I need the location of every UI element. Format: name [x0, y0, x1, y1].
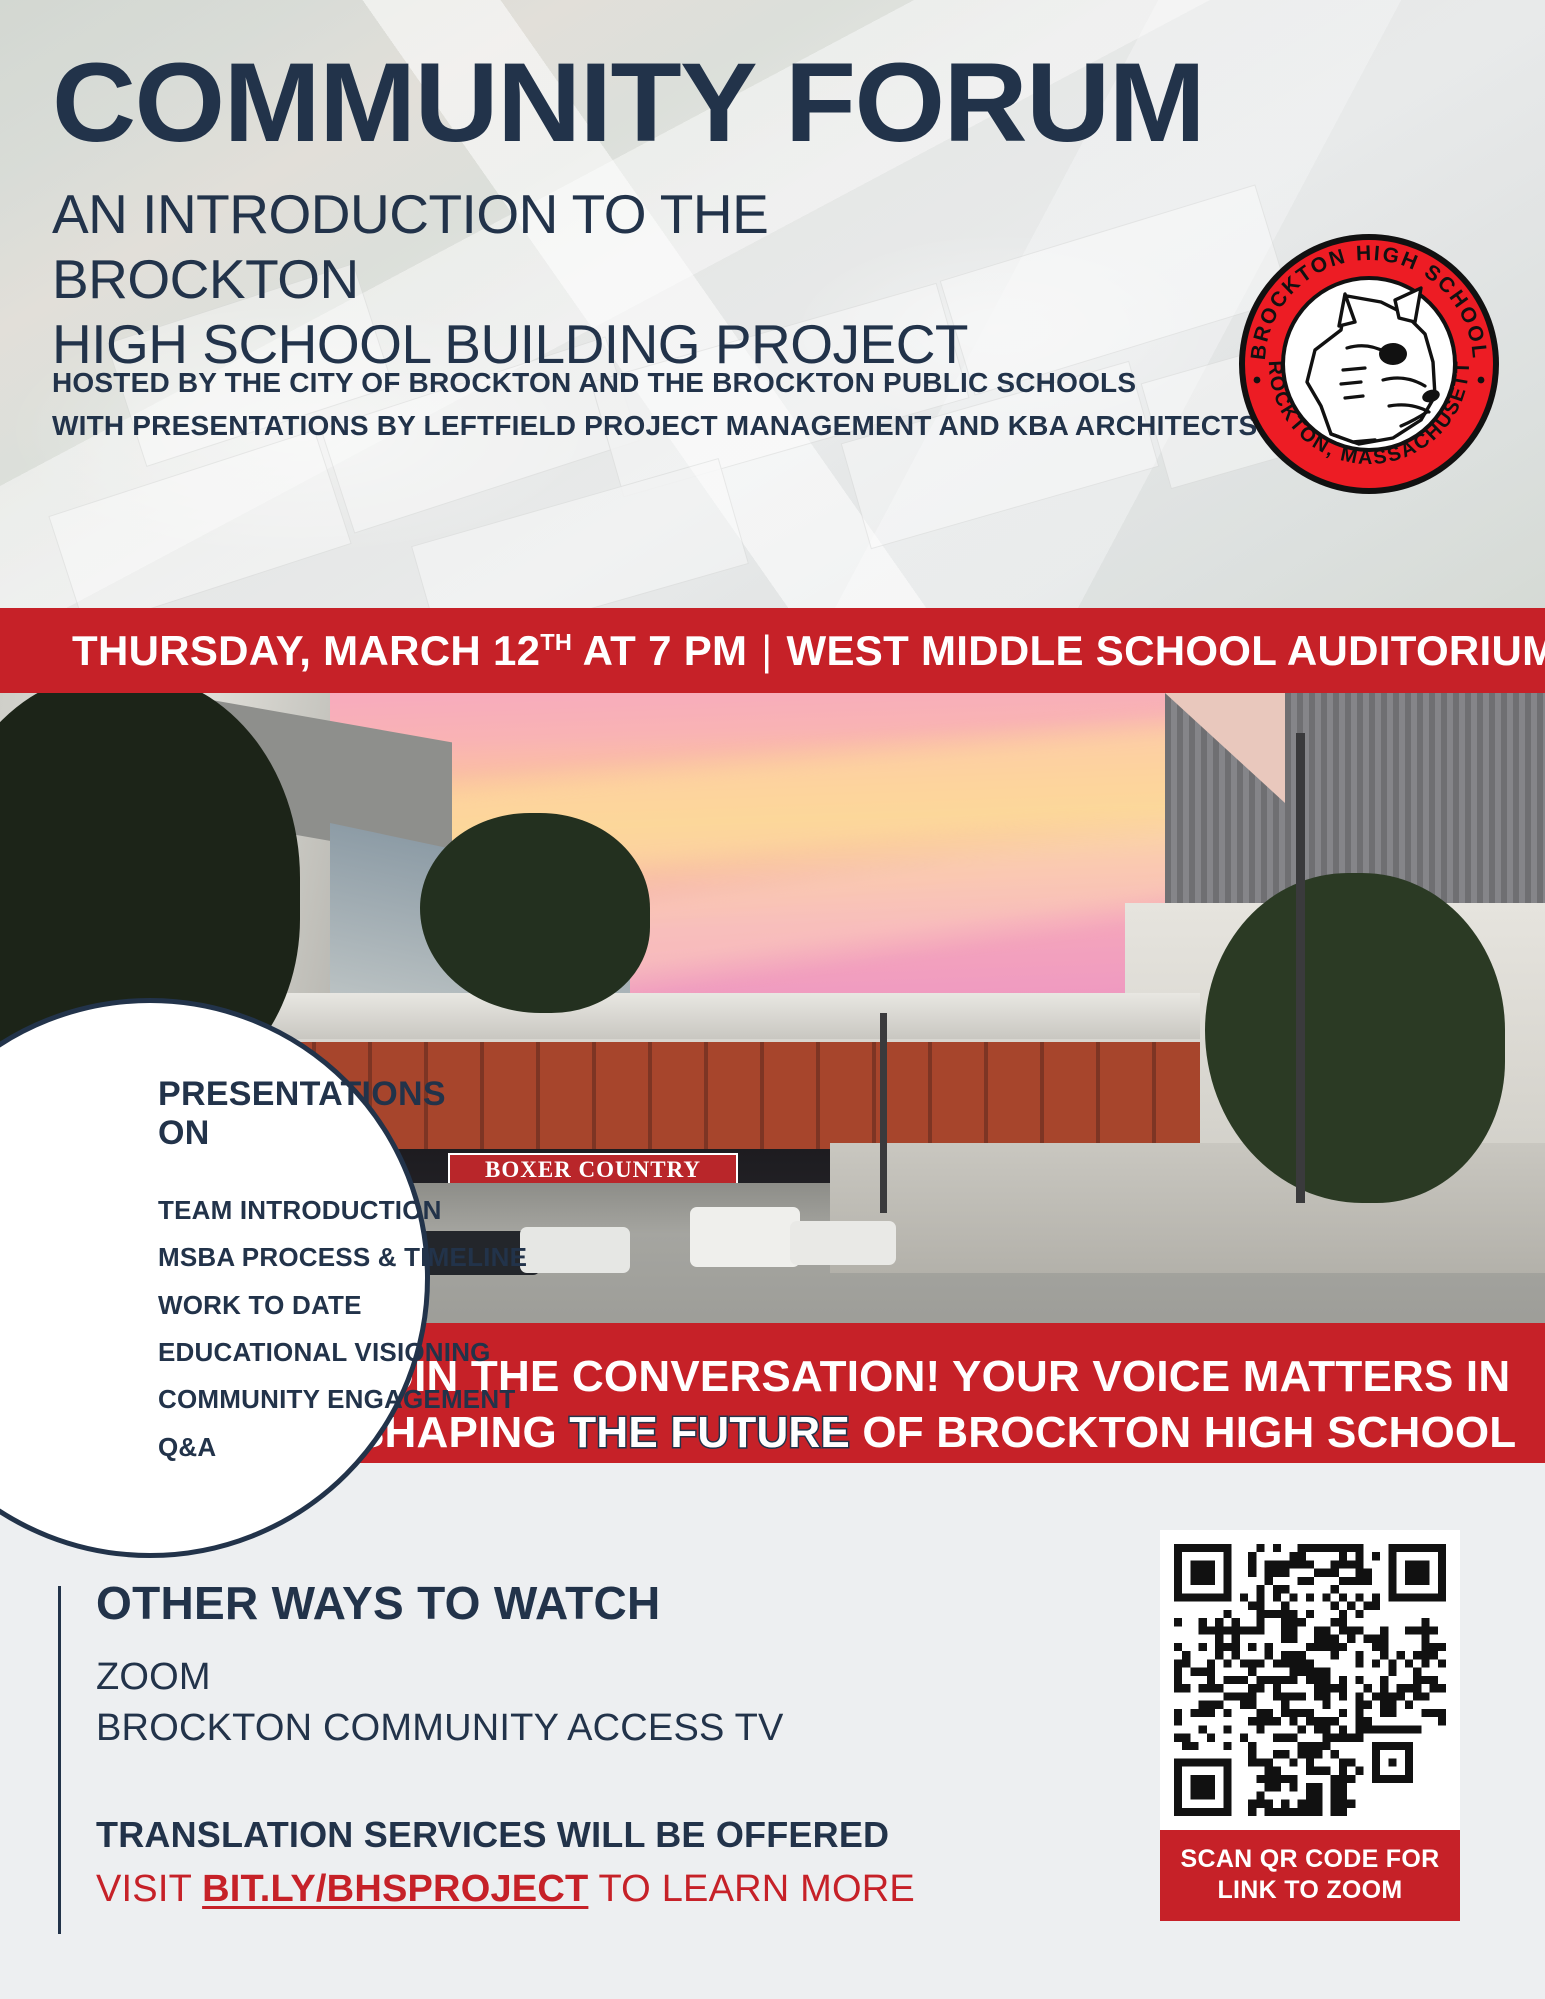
event-venue: WEST MIDDLE SCHOOL AUDITORIUM	[787, 627, 1545, 674]
event-day: THURSDAY, MARCH 12	[72, 627, 540, 674]
hosted-by-text: HOSTED BY THE CITY OF BROCKTON AND THE B…	[52, 362, 1257, 447]
presentations-list: TEAM INTRODUCTION MSBA PROCESS & TIMELIN…	[158, 1187, 488, 1471]
watch-option-zoom: ZOOM	[96, 1652, 936, 1703]
other-ways-title: OTHER WAYS TO WATCH	[96, 1576, 936, 1630]
vertical-divider	[58, 1586, 61, 1934]
list-item: Q&A	[158, 1424, 488, 1471]
join-conversation-line-1: JOIN THE CONVERSATION! YOUR VOICE MATTER…	[355, 1349, 1525, 1405]
bhsproject-link[interactable]: BIT.LY/BHSPROJECT	[202, 1868, 588, 1910]
light-pole-center	[880, 1013, 887, 1213]
visit-suffix: TO LEARN MORE	[588, 1868, 915, 1910]
event-time: AT 7 PM	[572, 627, 747, 674]
qr-caption: SCAN QR CODE FOR LINK TO ZOOM	[1160, 1830, 1460, 1921]
hosted-by-line-1: HOSTED BY THE CITY OF BROCKTON AND THE B…	[52, 362, 1257, 405]
translation-note: TRANSLATION SERVICES WILL BE OFFERED	[96, 1814, 936, 1856]
light-pole-right	[1296, 733, 1305, 1203]
watch-option-bcatv: BROCKTON COMMUNITY ACCESS TV	[96, 1703, 936, 1754]
entrance-canopy-roof	[260, 993, 1200, 1039]
brockton-high-school-logo: BROCKTON HIGH SCHOOL BROCKTON, MASSACHUS…	[1235, 230, 1503, 498]
other-ways-block: OTHER WAYS TO WATCH ZOOM BROCKTON COMMUN…	[96, 1576, 936, 1911]
qr-caption-line-2: LINK TO ZOOM	[1166, 1875, 1454, 1906]
visit-prefix: VISIT	[96, 1868, 202, 1910]
list-item: MSBA PROCESS & TIMELINE	[158, 1234, 488, 1281]
page-title: COMMUNITY FORUM	[52, 46, 1545, 160]
list-item: EDUCATIONAL VISIONING	[158, 1329, 488, 1376]
presentations-title: PRESENTATIONS ON	[158, 1075, 488, 1153]
page-subtitle-line-1: AN INTRODUCTION TO THE BROCKTON	[52, 182, 1012, 312]
qr-block: SCAN QR CODE FOR LINK TO ZOOM	[1160, 1530, 1460, 1921]
other-ways-options: ZOOM BROCKTON COMMUNITY ACCESS TV	[96, 1652, 936, 1754]
join-conversation-line-2: SHAPING THE FUTURE OF BROCKTON HIGH SCHO…	[355, 1405, 1525, 1461]
event-date-ordinal: TH	[540, 629, 572, 655]
join-line2-post: OF BROCKTON HIGH SCHOOL	[850, 1408, 1516, 1457]
join-line2-highlight: THE FUTURE	[569, 1408, 850, 1457]
boxer-country-sign: BOXER COUNTRY	[448, 1153, 738, 1187]
poster-header: COMMUNITY FORUM AN INTRODUCTION TO THE B…	[0, 0, 1545, 608]
event-date-banner: THURSDAY, MARCH 12TH AT 7 PM|WEST MIDDLE…	[0, 608, 1545, 693]
truck-white	[690, 1207, 800, 1267]
car-white-suv	[520, 1227, 630, 1273]
list-item: TEAM INTRODUCTION	[158, 1187, 488, 1234]
van-white	[790, 1221, 896, 1265]
presentations-content: PRESENTATIONS ON TEAM INTRODUCTION MSBA …	[158, 1075, 488, 1471]
event-separator: |	[747, 627, 786, 674]
event-date-text: THURSDAY, MARCH 12TH AT 7 PM|WEST MIDDLE…	[72, 627, 1545, 675]
list-item: WORK TO DATE	[158, 1282, 488, 1329]
qr-caption-line-1: SCAN QR CODE FOR	[1166, 1844, 1454, 1875]
page-subtitle: AN INTRODUCTION TO THE BROCKTON HIGH SCH…	[52, 182, 1012, 377]
visit-line: VISIT BIT.LY/BHSPROJECT TO LEARN MORE	[96, 1868, 936, 1911]
join-conversation-text: JOIN THE CONVERSATION! YOUR VOICE MATTER…	[355, 1349, 1525, 1462]
qr-code[interactable]	[1160, 1530, 1460, 1830]
list-item: COMMUNITY ENGAGEMENT	[158, 1376, 488, 1423]
hosted-by-line-2: WITH PRESENTATIONS BY LEFTFIELD PROJECT …	[52, 405, 1257, 448]
